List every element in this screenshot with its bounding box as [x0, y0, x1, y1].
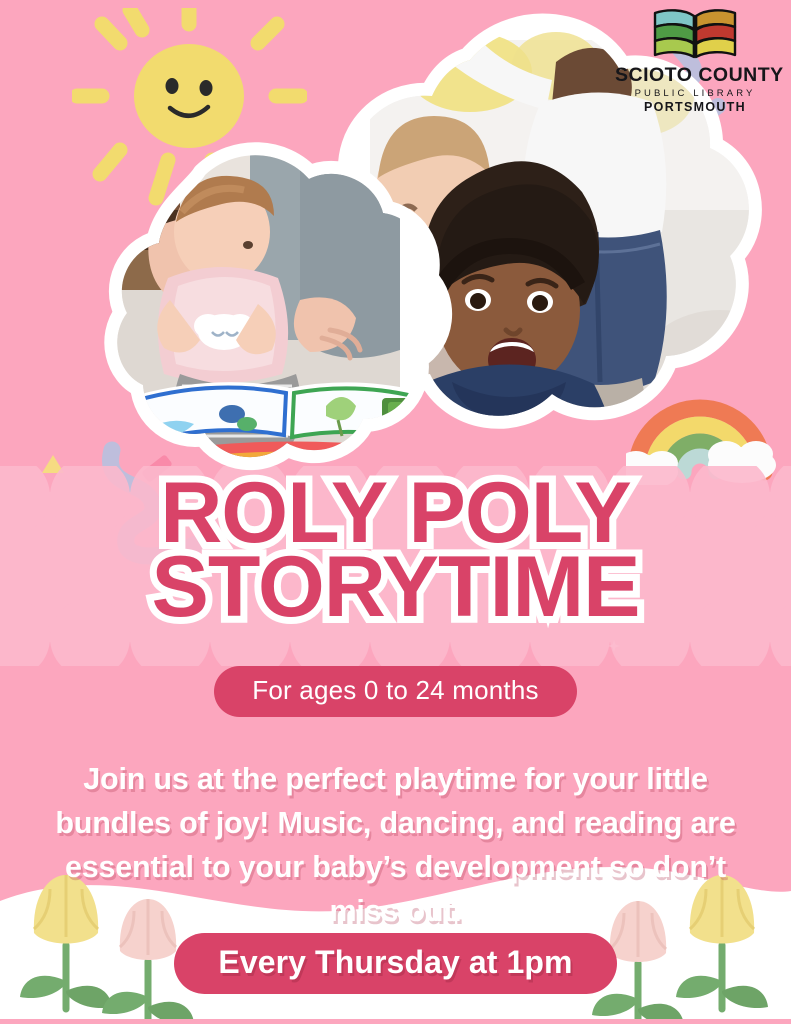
- smiling-sun-icon: [72, 8, 307, 213]
- age-range-badge: For ages 0 to 24 months: [214, 666, 576, 717]
- sparkle-accent-icon: [608, 640, 620, 652]
- schedule-badge-container: Every Thursday at 1pm: [0, 933, 791, 994]
- logo-name: SCIOTO COUNTY: [615, 66, 775, 86]
- age-badge-container: For ages 0 to 24 months: [0, 666, 791, 717]
- triangle-accent-icon: [592, 42, 614, 60]
- schedule-badge: Every Thursday at 1pm: [174, 933, 616, 994]
- poster-canvas: SCIOTO COUNTY PUBLIC LIBRARY PORTSMOUTH …: [0, 0, 791, 1024]
- description-text: Join us at the perfect playtime for your…: [52, 757, 739, 934]
- triangle-accent-icon: [42, 455, 64, 473]
- page-title: ROLY POLY STORYTIME: [0, 474, 791, 628]
- headline-line-2: STORYTIME: [0, 548, 791, 628]
- logo-city: PORTSMOUTH: [615, 101, 775, 114]
- library-logo: SCIOTO COUNTY PUBLIC LIBRARY PORTSMOUTH: [615, 6, 775, 114]
- logo-subtitle: PUBLIC LIBRARY: [615, 89, 775, 99]
- rainbow-icon: [626, 360, 781, 490]
- open-book-icon: [647, 6, 743, 64]
